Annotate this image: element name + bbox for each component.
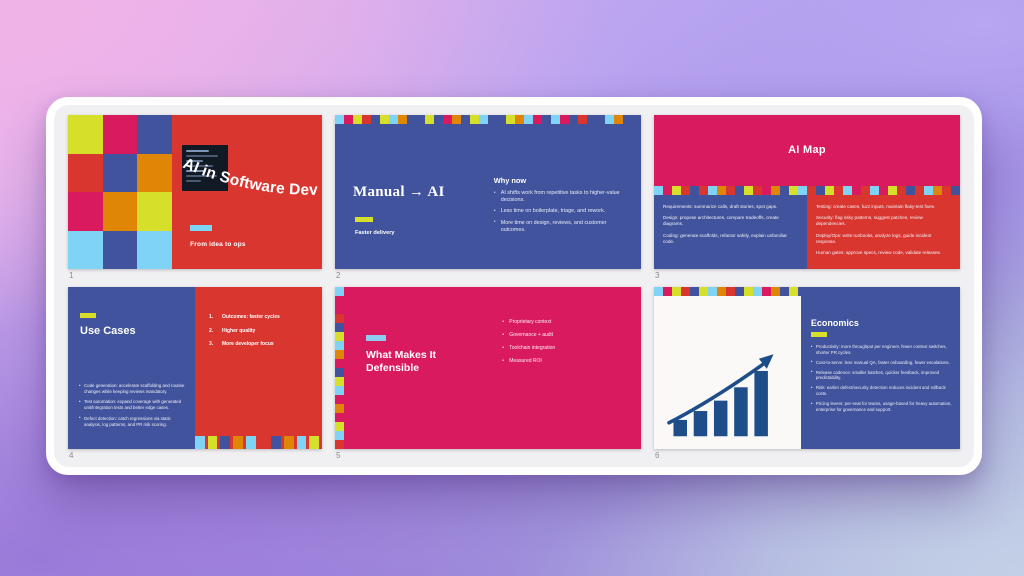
checker-tile [879,186,888,195]
checker-tile [335,305,344,314]
checker-tile [515,115,524,124]
checker-tile [807,186,816,195]
slide-4-numbered-list: Outcomes: faster cycles Higher quality M… [209,315,312,348]
slide-4-title: Use Cases [80,325,136,337]
checker-tile [906,186,915,195]
checker-tile [834,186,843,195]
checker-tile [744,186,753,195]
checker-tile [344,115,353,124]
slide-1-title-arc: AI in Software Dev [180,157,322,217]
checker-tile [789,287,798,296]
checker-tile [335,368,344,377]
list-item: Governance + audit [502,332,641,338]
svg-text:AI in Software Dev: AI in Software Dev [181,157,319,199]
checker-tile [861,186,870,195]
checker-tile [762,287,771,296]
slide-thumbnail-6[interactable]: Economics Productivity: more throughput … [654,287,960,449]
checker-tile [416,115,425,124]
slide-4-right: Outcomes: faster cycles Higher quality M… [195,287,322,449]
chart-bar [714,401,727,437]
checker-tile [717,287,726,296]
checker-tile [542,115,551,124]
chart-bar [694,411,707,436]
checker-tile [744,287,753,296]
list-item: Security: flag risky patterns, suggest p… [816,215,952,227]
slide-4-bullets: Code generation: accelerate scaffolding … [79,383,189,432]
slide-2-section-heading: Why now [494,176,631,185]
bar-chart-graphic [660,302,795,443]
checker-tile [654,186,663,195]
checker-tile [335,332,344,341]
checker-tile [708,186,717,195]
slide-6-right: Economics Productivity: more throughput … [801,296,960,449]
checker-tile [434,115,443,124]
mosaic-tile [103,154,138,193]
checker-tile [924,186,933,195]
checker-tile [497,115,506,124]
checker-tile [852,186,861,195]
checker-tile [843,186,852,195]
checker-tile [672,186,681,195]
checker-tile [488,115,497,124]
checker-tile [933,186,942,195]
list-item: Defect detection: catch regressions via … [79,416,189,427]
list-item: More time on design, reviews, and custom… [494,220,631,234]
color-square [271,436,281,449]
slide-cell-4: Use Cases Code generation: accelerate sc… [68,287,322,461]
list-item: AI shifts work from repetitive tasks to … [494,190,631,204]
slide-6-title: Economics [811,318,952,328]
slide-2-caption: Faster delivery [355,230,395,236]
checker-strip-top [654,287,801,296]
color-square [259,436,269,449]
slide-2-right: Why now AI shifts work from repetitive t… [494,124,631,269]
color-square [246,436,256,449]
slide-2-body: Manual → AI Faster delivery Why now AI s… [335,124,641,269]
slide-4-left: Use Cases Code generation: accelerate sc… [68,287,195,449]
accent-dash [190,225,212,231]
checker-tile [443,115,452,124]
slide-3-header: AI Map [654,115,960,186]
presentation-window: AI in Software Dev From idea to ops 1 Ma… [46,97,982,475]
slide-thumbnail-5[interactable]: What Makes It Defensible Proprietary con… [335,287,641,449]
color-squares-row [195,436,322,449]
checker-tile [663,287,672,296]
slide-2-left: Manual → AI Faster delivery [345,124,494,269]
checker-tile [726,287,735,296]
checker-tile [335,386,344,395]
slide-number-3: 3 [654,269,960,281]
checker-tile [915,186,924,195]
checker-tile [335,440,344,449]
checker-tile [753,287,762,296]
checker-tile [335,377,344,386]
checker-tile [735,287,744,296]
checker-strip-top [335,115,641,124]
checker-tile [524,115,533,124]
checker-tile [506,115,515,124]
checker-tile [762,186,771,195]
checker-tile [753,186,762,195]
color-square [208,436,218,449]
checker-tile [380,115,389,124]
list-item: Requirements: summarize calls, draft sto… [663,204,799,210]
list-item: More developer focus [209,342,312,348]
checker-tile [897,186,906,195]
list-item: Human gates: approve specs, review code,… [816,250,952,256]
checker-strip-left [335,287,344,449]
slide-6-bullets: Productivity: more throughput per engine… [811,344,952,412]
slide-2-bullets: AI shifts work from repetitive tasks to … [494,190,631,234]
list-item: Release cadence: smaller batches, quicke… [811,370,952,381]
slide-3-right-column: Testing: create cases, fuzz inputs, main… [807,195,960,269]
checker-tile [569,115,578,124]
slide-cell-6: Economics Productivity: more throughput … [654,287,960,461]
growth-chart-image [654,296,801,449]
checker-tile [353,115,362,124]
checker-tile [335,431,344,440]
checker-tile [780,287,789,296]
list-item: Design: propose architectures, compare t… [663,215,799,227]
list-item: Pricing levers: per-seat for teams, usag… [811,401,952,412]
checker-tile [425,115,434,124]
checker-tile [335,296,344,305]
checker-tile [771,287,780,296]
checker-tile [942,186,951,195]
checker-tile [362,115,371,124]
checker-tile [452,115,461,124]
checker-tile [825,186,834,195]
list-item: Risk: earlier defect/security detection … [811,385,952,396]
checker-tile [888,186,897,195]
checker-tile [605,115,614,124]
checker-tile [335,287,344,296]
checker-tile [596,115,605,124]
checker-tile [699,287,708,296]
checker-tile [690,186,699,195]
accent-dash [355,217,373,222]
slide-cell-5: What Makes It Defensible Proprietary con… [335,287,641,461]
slide-3-columns: Requirements: summarize calls, draft sto… [654,195,960,269]
list-item: Testing: create cases, fuzz inputs, main… [816,204,952,210]
checker-tile [735,186,744,195]
slide-5-body: What Makes It Defensible Proprietary con… [344,287,641,449]
checker-tile [780,186,789,195]
checker-tile [560,115,569,124]
list-item: Higher quality [209,329,312,335]
checker-tile [798,186,807,195]
checker-tile [335,359,344,368]
mosaic-tile [68,231,103,270]
slide-cell-2: Manual → AI Faster delivery Why now AI s… [335,115,641,281]
mosaic-tile [137,154,172,193]
list-item: Less time on boilerplate, triage, and re… [494,208,631,215]
slide-number-6: 6 [654,449,960,461]
checker-tile [533,115,542,124]
mosaic-tile [103,115,138,154]
checker-tile [578,115,587,124]
checker-tile [335,404,344,413]
checker-tile [708,287,717,296]
slide-3-left-column: Requirements: summarize calls, draft sto… [654,195,807,269]
checker-tile [461,115,470,124]
checker-tile [479,115,488,124]
checker-tile [371,115,380,124]
mosaic-tile [68,192,103,231]
checker-tile [389,115,398,124]
slide-thumbnail-2[interactable]: Manual → AI Faster delivery Why now AI s… [335,115,641,269]
checker-tile [726,186,735,195]
slide-1-content: AI in Software Dev From idea to ops [172,115,322,269]
color-square [309,436,319,449]
checker-tile [672,287,681,296]
accent-dash [366,335,386,341]
mosaic-tile [137,231,172,270]
slide-5-right: Proprietary context Governance + audit T… [502,287,641,449]
checker-tile [335,413,344,422]
checker-tile [470,115,479,124]
slide-1-title: AI in Software Dev [181,157,319,199]
slide-thumbnail-4[interactable]: Use Cases Code generation: accelerate sc… [68,287,322,449]
checker-tile [717,186,726,195]
color-square [195,436,205,449]
slide-number-2: 2 [335,269,641,281]
chart-bar [754,371,767,436]
list-item: Toolchain integration [502,345,641,351]
mosaic-grid [68,115,172,269]
mosaic-tile [137,192,172,231]
slide-cell-1: AI in Software Dev From idea to ops 1 [68,115,322,281]
checker-tile [789,186,798,195]
slide-grid: AI in Software Dev From idea to ops 1 Ma… [68,115,960,461]
color-square [220,436,230,449]
slide-5-title: What Makes It Defensible [366,349,486,375]
chart-bar [734,387,747,436]
checker-tile [699,186,708,195]
list-item: Deploy/Ops: write runbooks, analyze logs… [816,233,952,245]
checker-tile [690,287,699,296]
checker-tile [587,115,596,124]
slide-3-title: AI Map [788,144,826,156]
accent-dash [811,332,827,337]
checker-tile [335,314,344,323]
chart-bar [673,420,686,436]
checker-strip-middle [654,186,960,195]
slide-thumbnail-1[interactable]: AI in Software Dev From idea to ops [68,115,322,269]
checker-tile [663,186,672,195]
checker-tile [632,115,641,124]
slide-number-4: 4 [68,449,322,461]
slide-number-1: 1 [68,269,322,281]
checker-tile [335,115,344,124]
slide-5-left: What Makes It Defensible [352,287,502,449]
checker-tile [335,422,344,431]
list-item: Coding: generate scaffolds, refactor saf… [663,233,799,245]
mosaic-tile [68,115,103,154]
color-square [233,436,243,449]
checker-tile [681,287,690,296]
checker-tile [335,350,344,359]
list-item: Measured ROI [502,358,641,364]
checker-tile [335,395,344,404]
list-item: Proprietary context [502,319,641,325]
checker-tile [614,115,623,124]
checker-tile [407,115,416,124]
list-item: Outcomes: faster cycles [209,315,312,321]
list-item: Code generation: accelerate scaffolding … [79,383,189,394]
checker-tile [654,287,663,296]
list-item: Productivity: more throughput per engine… [811,344,952,355]
slide-cell-3: AI Map Requirements: summarize calls, dr… [654,115,960,281]
color-square [297,436,307,449]
list-item: Test automation: expand coverage with ge… [79,399,189,410]
checker-tile [398,115,407,124]
slide-2-title: Manual → AI [353,184,445,201]
slide-5-bullets: Proprietary context Governance + audit T… [502,319,641,364]
slide-thumbnail-3[interactable]: AI Map Requirements: summarize calls, dr… [654,115,960,269]
slide-1-subtitle: From idea to ops [190,241,246,248]
slide-number-5: 5 [335,449,641,461]
mosaic-tile [137,115,172,154]
color-square [284,436,294,449]
checker-tile [816,186,825,195]
checker-tile [335,323,344,332]
slide-6-body: Economics Productivity: more throughput … [654,296,960,449]
mosaic-tile [68,154,103,193]
mosaic-tile [103,192,138,231]
list-item: Cost-to-serve: less manual QA, faster on… [811,360,952,366]
checker-tile [870,186,879,195]
checker-tile [771,186,780,195]
checker-tile [681,186,690,195]
checker-tile [623,115,632,124]
checker-tile [551,115,560,124]
slide-grid-canvas: AI in Software Dev From idea to ops 1 Ma… [54,105,974,467]
mosaic-tile [103,231,138,270]
checker-tile [951,186,960,195]
checker-tile [335,341,344,350]
accent-dash [80,313,96,318]
